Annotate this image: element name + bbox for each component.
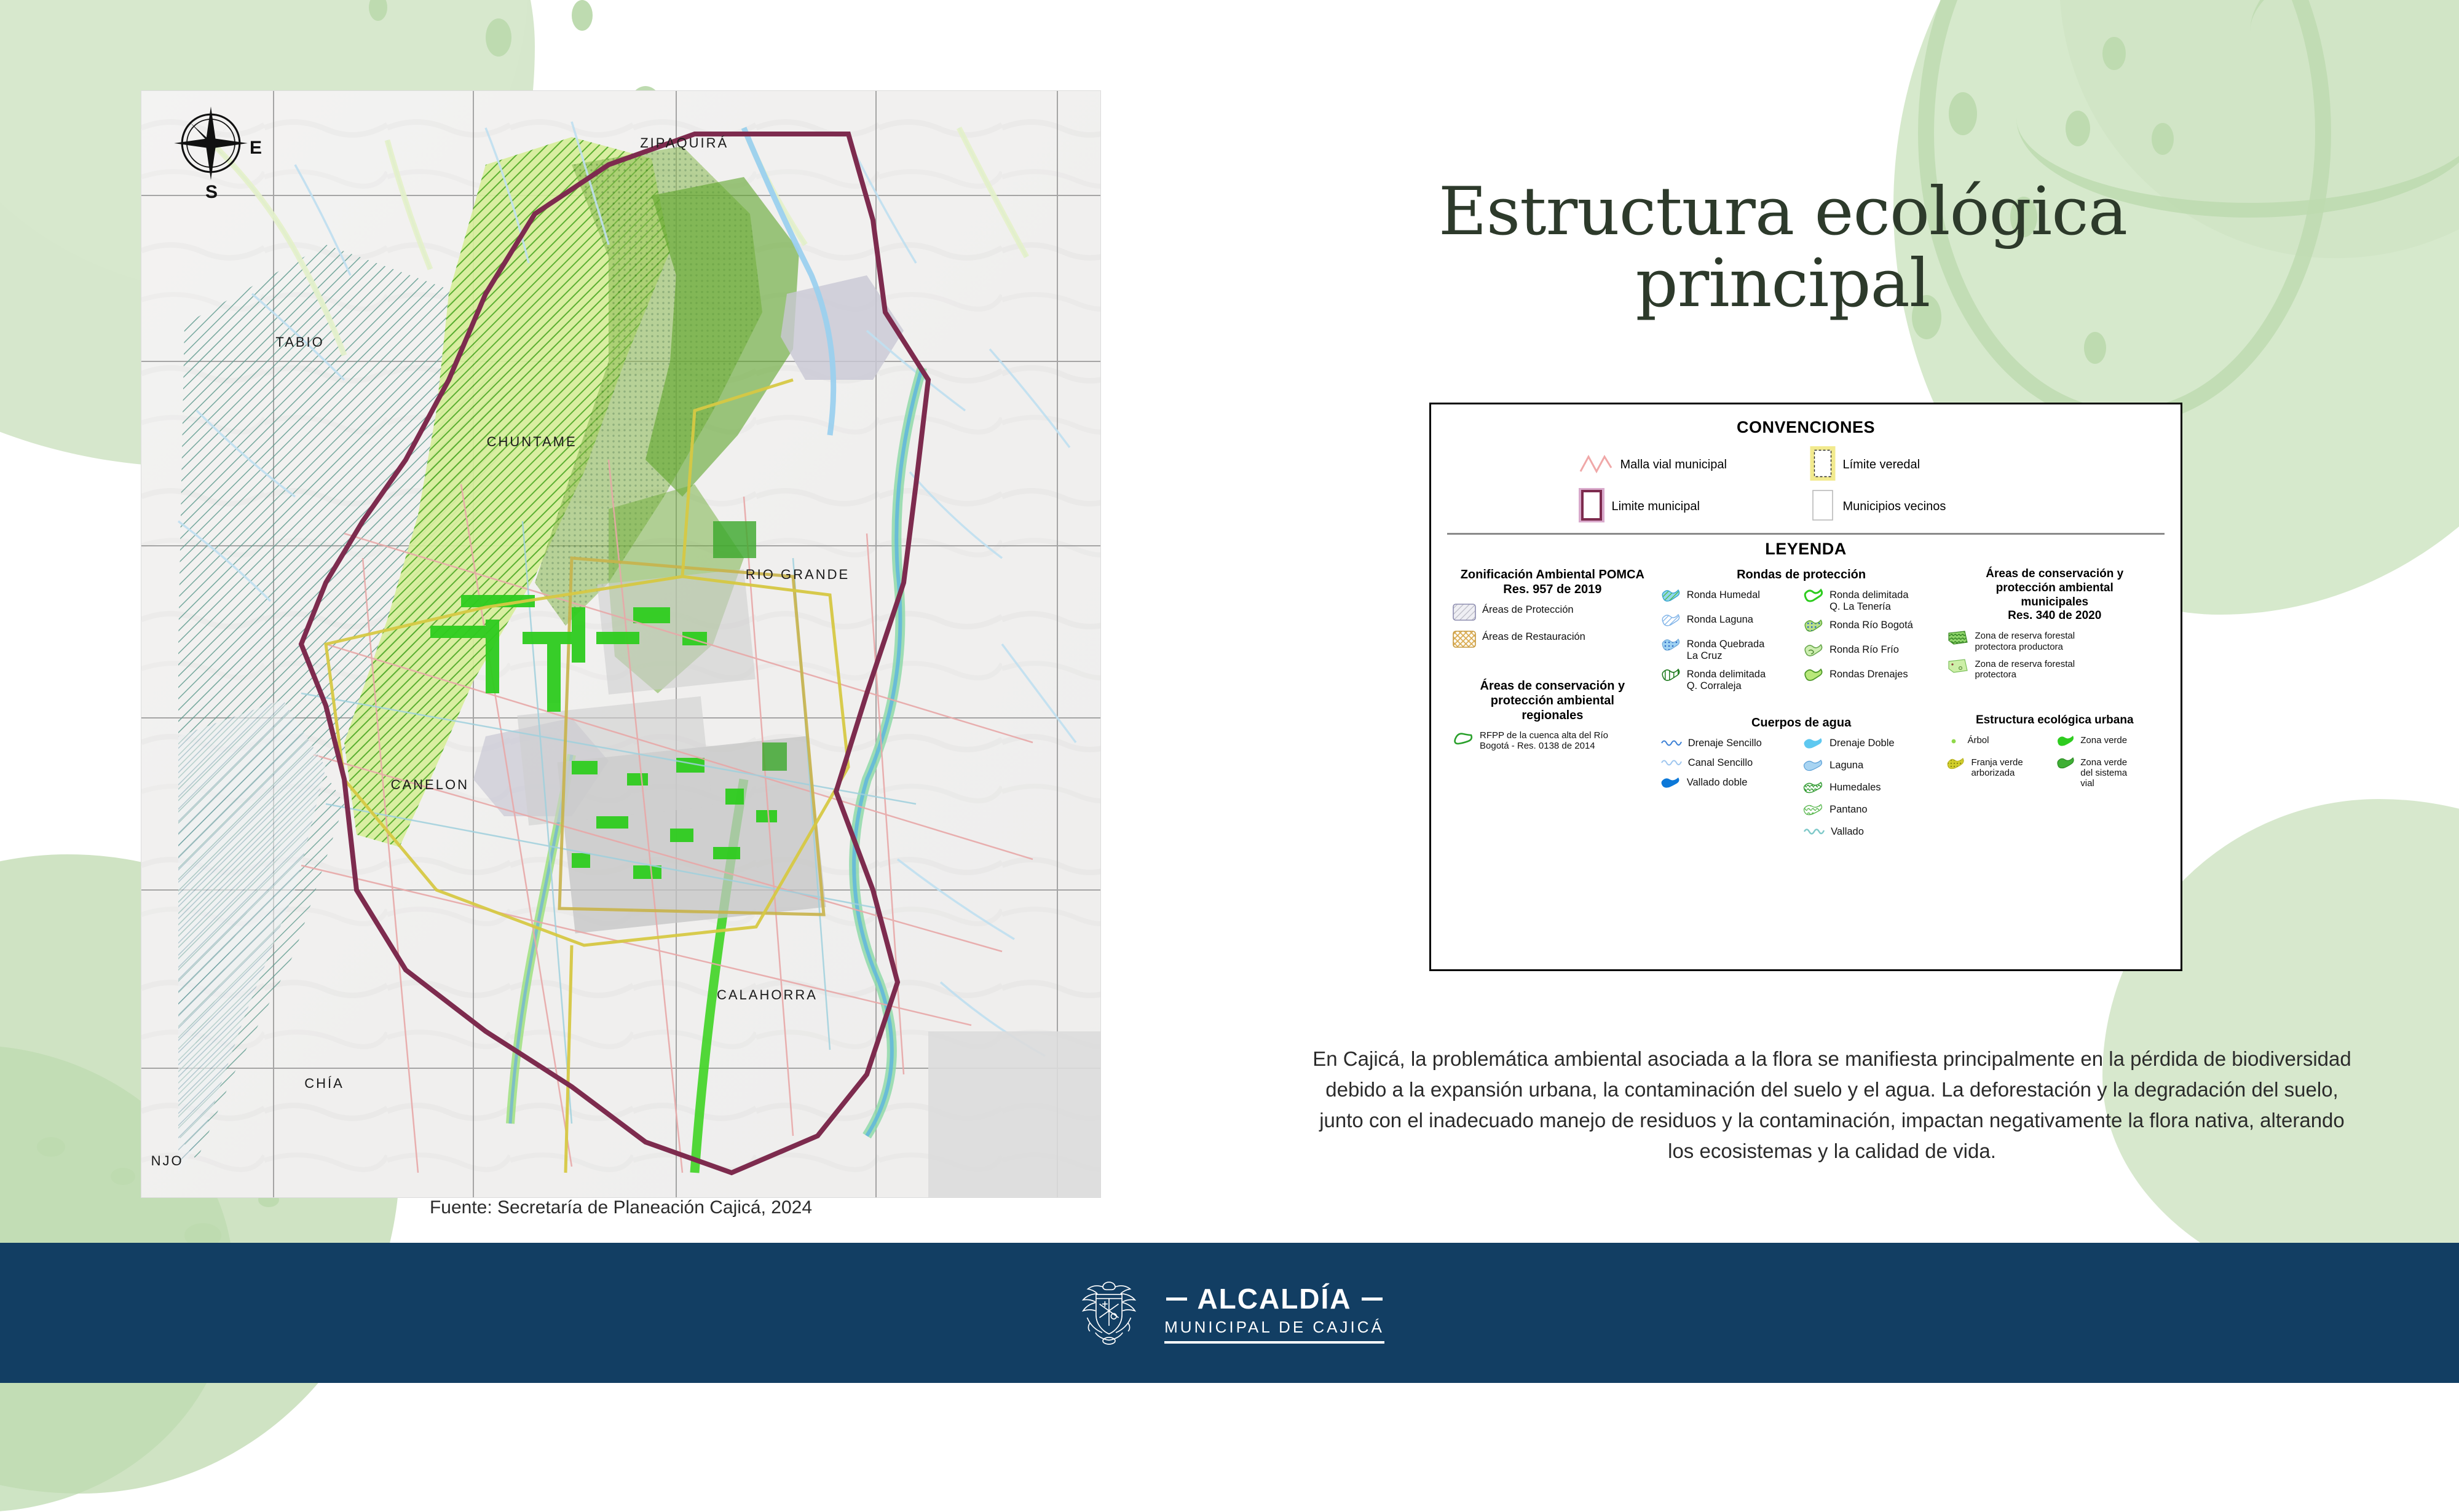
compass-east-label: E: [250, 138, 262, 159]
decor-dot: [2102, 37, 2126, 70]
alcaldia-logo[interactable]: ALCALDÍA MUNICIPAL DE CAJICÁ: [1075, 1275, 1384, 1350]
legend-divider: [1447, 533, 2165, 535]
legend-item-label: Áreas de Protección: [1482, 603, 1574, 616]
section-heading-rondas: Rondas de protección: [1660, 567, 1943, 582]
decor-dot: [1949, 92, 1977, 135]
alcaldia-wordmark: ALCALDÍA MUNICIPAL DE CAJICÁ: [1164, 1282, 1384, 1344]
blob-stripe-cyan-green-icon: [1660, 588, 1681, 607]
map-source-caption: Fuente: Secretaría de Planeación Cajicá,…: [141, 1197, 1100, 1218]
legend-item-label: Vallado: [1831, 825, 1864, 838]
legend-item-label: Ronda Río Bogotá: [1829, 618, 1913, 631]
rect-outline-gray-icon: [1810, 488, 1836, 526]
legend-item-drenaje-sencillo[interactable]: Drenaje Sencillo: [1660, 736, 1799, 750]
map-place-label: CHUNTAME: [487, 434, 577, 450]
decor-dot: [369, 0, 387, 21]
legend-item-ronda-rio-bogota[interactable]: Ronda Río Bogotá: [1803, 618, 1942, 637]
decor-dot: [572, 0, 593, 31]
wavy-line-lightblue-icon: [1660, 756, 1683, 770]
blob-stripe-darkgreen-icon: [1660, 667, 1681, 687]
legend-item-label: Ronda Humedal: [1687, 588, 1760, 601]
convention-label: Limite municipal: [1612, 500, 1700, 514]
page-title: Estructura ecológica principal: [1254, 176, 2311, 320]
legend-item-label: Ronda Río Frío: [1829, 643, 1899, 656]
legend-item-label: Zona verde: [2080, 734, 2127, 746]
legend-item-vallado-doble[interactable]: Vallado doble: [1660, 776, 1799, 792]
legend-item-label: Rondas Drenajes: [1829, 667, 1908, 680]
dash-right: [1362, 1297, 1383, 1301]
legend-item-franja-verde-arborizada[interactable]: Franja verdearborizada: [1947, 756, 2053, 779]
legend-item-label: Drenaje Sencillo: [1688, 736, 1762, 749]
legend-item-rfpp-cuenca-alta[interactable]: RFPP de la cuenca alta del RíoBogotá - R…: [1452, 729, 1653, 752]
decor-wave-top-right-2: [2250, 0, 2459, 132]
blob-stripe-blue-icon: [1660, 613, 1681, 632]
blob-outline-green-icon: [1452, 729, 1474, 749]
legend-item-zrf-protectora[interactable]: Zona de reserva forestalprotectora: [1947, 658, 2162, 680]
hatch-crosshatch-tan-icon: [1452, 630, 1477, 652]
legend-item-zona-verde-sistema-vial[interactable]: Zona verdedel sistemavial: [2056, 756, 2162, 789]
legend-item-label: Humedales: [1829, 781, 1881, 793]
legend-item-label: RFPP de la cuenca alta del RíoBogotá - R…: [1480, 729, 1608, 752]
coat-of-arms-icon: [1075, 1275, 1143, 1350]
legend-item-label: Laguna: [1829, 758, 1863, 771]
map-place-label: RIO GRANDE: [746, 567, 850, 583]
blob-dots-blue-icon: [1660, 637, 1681, 656]
blob-lightblue-icon: [1803, 758, 1824, 775]
cuerpos-right-list: Drenaje Doble Laguna Humedales: [1803, 736, 1942, 845]
section-heading-regionales: Áreas de conservación y protección ambie…: [1452, 679, 1653, 723]
page-title-line2: principal: [1636, 245, 1930, 322]
zigzag-line-pink-icon: [1579, 453, 1613, 477]
legend-item-label: Canal Sencillo: [1688, 756, 1753, 769]
legend-item-pantano[interactable]: Pantano: [1803, 803, 1942, 819]
blob-olive-dots-icon: [1947, 756, 1965, 774]
legend-item-laguna[interactable]: Laguna: [1803, 758, 1942, 775]
blob-lime-icon: [1803, 667, 1824, 687]
map-place-label: ZIPAQUIRÁ: [640, 135, 728, 151]
legend-item-rondas-drenajes[interactable]: Rondas Drenajes: [1803, 667, 1942, 687]
map-graphic: [141, 91, 1100, 1197]
section-heading-estructura-urbana: Estructura ecológica urbana: [1947, 714, 2162, 728]
wavy-line-teal-icon: [1803, 825, 1825, 839]
compass-south-label: S: [205, 182, 218, 203]
footer-bar: ALCALDÍA MUNICIPAL DE CAJICÁ: [0, 1243, 2459, 1383]
rondas-left-list: Ronda Humedal Ronda Laguna Ronda Quebrad…: [1660, 588, 1799, 698]
section-heading-cuerpos-agua: Cuerpos de agua: [1660, 715, 1943, 730]
legend-item-label: Ronda delimitadaQ. La Tenería: [1829, 588, 1908, 613]
dot-lime-icon: [1947, 734, 1962, 750]
legend-item-label: Ronda Laguna: [1687, 613, 1753, 626]
rect-outline-yellow-icon: [1810, 446, 1836, 484]
convention-label: Límite veredal: [1843, 458, 1920, 472]
convention-limite-municipal[interactable]: Limite municipal: [1579, 487, 1802, 526]
patch-mottled-green-icon: [1947, 629, 1969, 648]
legend-item-zona-verde[interactable]: Zona verde: [2056, 734, 2162, 750]
blob-outline-brightgreen-icon: [1803, 588, 1824, 607]
decor-dot: [111, 1168, 135, 1185]
map-panel[interactable]: E S ZIPAQUIRÁTABIOCHUNTAMERIO GRANDECANE…: [141, 91, 1100, 1197]
blob-medium-green-icon: [2056, 756, 2075, 773]
section-heading-pomca: Zonificación Ambiental POMCA Res. 957 de…: [1452, 567, 1653, 597]
legend-item-ronda-rio-frio[interactable]: Ronda Río Frío: [1803, 643, 1942, 662]
conventions-title: CONVENCIONES: [1447, 418, 2165, 437]
legend-item-label: Ronda delimitadaQ. Corraleja: [1687, 667, 1766, 692]
legend-item-canal-sencillo[interactable]: Canal Sencillo: [1660, 756, 1799, 770]
blob-solid-blue-icon: [1660, 776, 1681, 792]
blob-solid-cyan-icon: [1803, 736, 1824, 753]
legend-item-drenaje-doble[interactable]: Drenaje Doble: [1803, 736, 1942, 753]
blob-pale-green-icon: [1803, 643, 1824, 662]
decor-dot: [2066, 111, 2090, 146]
blob-dots-green-icon: [1803, 618, 1824, 637]
convention-municipios-vecinos[interactable]: Municipios vecinos: [1810, 487, 2034, 526]
body-paragraph: En Cajicá, la problemática ambiental aso…: [1309, 1044, 2354, 1167]
leyenda-title: LEYENDA: [1447, 540, 2165, 559]
legend-item-label: Ronda QuebradaLa Cruz: [1687, 637, 1765, 662]
alcaldia-sub: MUNICIPAL DE CAJICÁ: [1164, 1318, 1384, 1337]
decor-dot: [2152, 123, 2174, 155]
legend-item-ronda-q-corraleja[interactable]: Ronda delimitadaQ. Corraleja: [1660, 667, 1799, 692]
rect-outline-maroon-icon: [1579, 488, 1604, 526]
blob-bright-green-icon: [2056, 734, 2075, 750]
legend-item-label: Drenaje Doble: [1829, 736, 1894, 749]
alcaldia-name: ALCALDÍA: [1197, 1282, 1351, 1315]
decor-dot: [486, 18, 511, 57]
convention-limite-veredal[interactable]: Límite veredal: [1810, 446, 2034, 484]
decor-dot: [37, 1137, 65, 1157]
legend-item-ronda-laguna[interactable]: Ronda Laguna: [1660, 613, 1799, 632]
map-legend-box[interactable]: CONVENCIONES Malla vial municipal Límite…: [1429, 403, 2182, 971]
map-place-label: TABIO: [275, 334, 324, 350]
legend-item-areas-restauracion[interactable]: Áreas de Restauración: [1452, 630, 1653, 652]
page-title-line1: Estructura ecológica: [1439, 173, 2127, 250]
legend-item-label: Áreas de Restauración: [1482, 630, 1585, 643]
hatch-diagonal-gray-icon: [1452, 603, 1477, 624]
wavy-line-blue-icon: [1660, 736, 1683, 750]
map-place-label: CANELON: [391, 777, 469, 793]
map-place-label: NJO: [151, 1153, 184, 1169]
legend-item-label: Franja verdearborizada: [1971, 756, 2023, 779]
conventions-grid: Malla vial municipal Límite veredal Limi…: [1579, 446, 2034, 526]
legend-item-label: Zona de reserva forestalprotectora produ…: [1975, 629, 2075, 652]
blob-mottled-green-icon: [1803, 781, 1824, 797]
compass-rose-icon: [171, 103, 251, 183]
legend-item-humedales[interactable]: Humedales: [1803, 781, 1942, 797]
legend-item-arbol[interactable]: Árbol: [1947, 734, 2053, 750]
legend-item-vallado[interactable]: Vallado: [1803, 825, 1942, 839]
legend-item-areas-proteccion[interactable]: Áreas de Protección: [1452, 603, 1653, 624]
decor-dot: [2084, 332, 2106, 364]
convention-label: Malla vial municipal: [1620, 458, 1727, 472]
convention-label: Municipios vecinos: [1843, 500, 1946, 514]
patch-pale-green-icon: [1947, 658, 1969, 677]
logo-underline: [1164, 1341, 1384, 1344]
map-place-label: CALAHORRA: [717, 987, 818, 1003]
legend-item-label: Zona de reserva forestalprotectora: [1975, 658, 2075, 680]
map-place-label: CHÍA: [304, 1076, 344, 1092]
convention-malla-vial[interactable]: Malla vial municipal: [1579, 446, 1802, 484]
legend-item-ronda-humedal[interactable]: Ronda Humedal: [1660, 588, 1799, 607]
dash-left: [1166, 1297, 1187, 1301]
cuerpos-left-list: Drenaje Sencillo Canal Sencillo Vallado …: [1660, 736, 1799, 845]
legend-item-zrf-protectora-productora[interactable]: Zona de reserva forestalprotectora produ…: [1947, 629, 2162, 652]
legend-item-ronda-q-la-teneria[interactable]: Ronda delimitadaQ. La Tenería: [1803, 588, 1942, 613]
urbana-right-list: Zona verde Zona verdedel sistemavial: [2056, 734, 2162, 795]
legend-item-label: Árbol: [1967, 734, 1989, 746]
section-heading-municipales: Áreas de conservación y protección ambie…: [1947, 567, 2162, 623]
legend-item-label: Vallado doble: [1687, 776, 1748, 789]
legend-item-label: Zona verdedel sistemavial: [2080, 756, 2127, 789]
legend-item-ronda-quebrada-la-cruz[interactable]: Ronda QuebradaLa Cruz: [1660, 637, 1799, 662]
rondas-right-list: Ronda delimitadaQ. La Tenería Ronda Río …: [1803, 588, 1942, 698]
urbana-left-list: Árbol Franja verdearborizada: [1947, 734, 2053, 795]
blob-mottled-palegreen-icon: [1803, 803, 1824, 819]
legend-item-label: Pantano: [1829, 803, 1867, 816]
